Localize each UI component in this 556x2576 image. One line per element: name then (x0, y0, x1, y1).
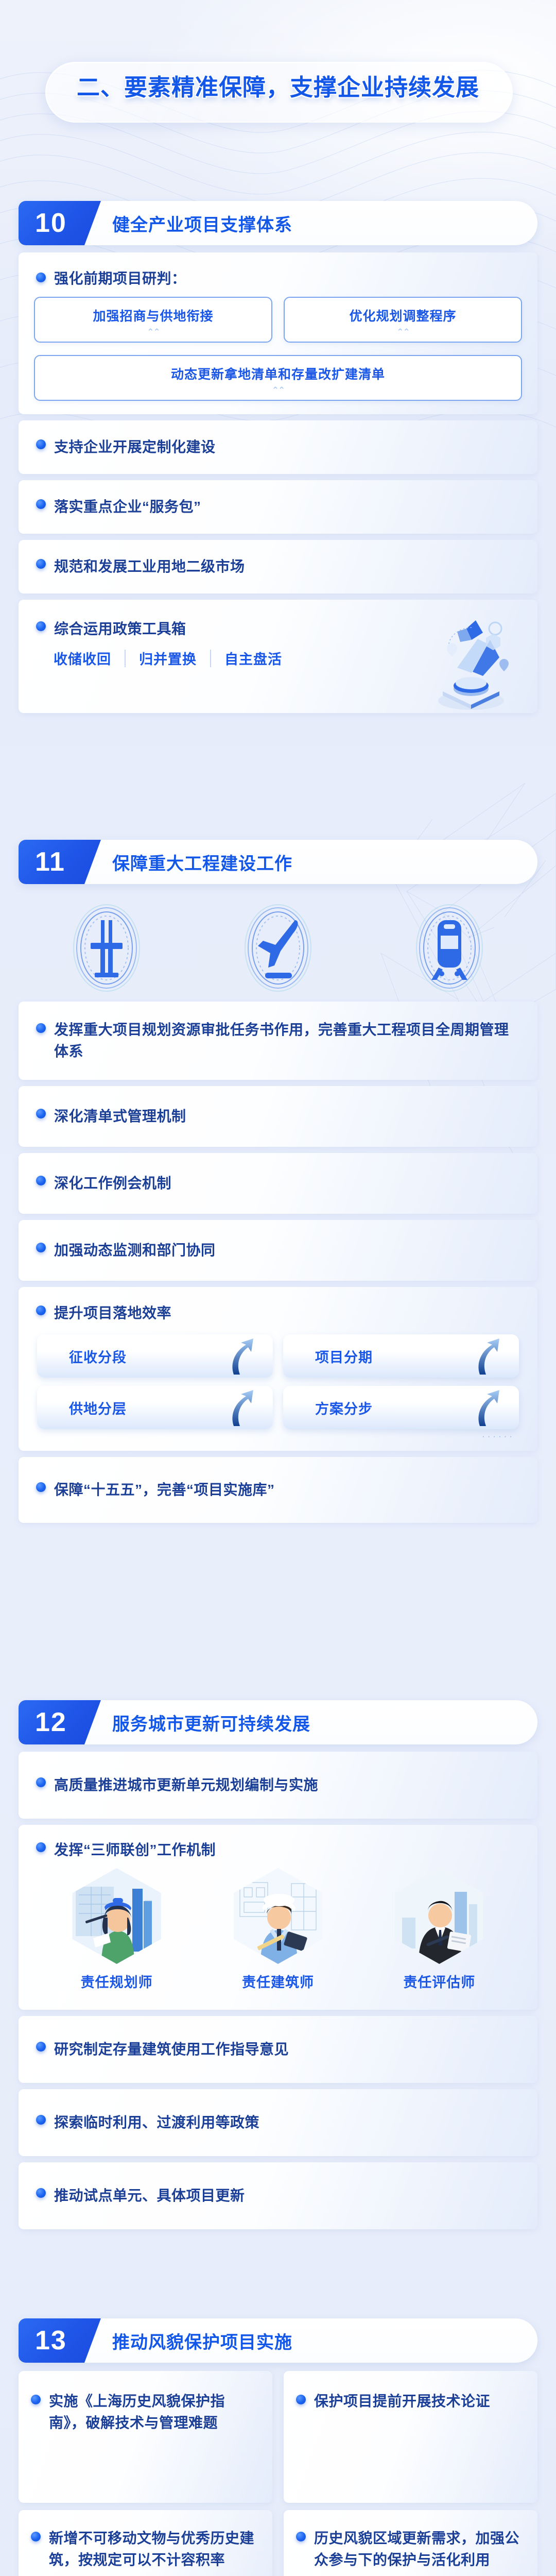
bullet-text: 加强动态监测和部门协同 (54, 1240, 216, 1261)
efficiency-card-label: 方案分步 (315, 1398, 373, 1418)
bullet-dot-icon (36, 1842, 46, 1852)
card-13-1a: 实施《上海历史风貌保护指南》，破解技术与管理难题 (19, 2371, 272, 2503)
bullet-dot-icon (36, 499, 46, 509)
bullet-item: 深化清单式管理机制 (19, 1106, 201, 1127)
bullet-item: 落实重点企业“服务包” (19, 496, 216, 518)
toolbox-option[interactable]: 自主盘活 (211, 648, 296, 668)
efficiency-card-label: 供地分层 (69, 1398, 127, 1418)
bullet-text: 发挥重大项目规划资源审批任务书作用，完善重大工程项目全周期管理体系 (54, 1019, 517, 1062)
section-title: 保障重大工程建设工作 (112, 840, 292, 884)
pill-grid: 加强招商与供地衔接 ⌃⌃ 优化规划调整程序 ⌃⌃ (19, 297, 537, 346)
section-10: 10 健全产业项目支撑体系 强化前期项目研判： 加强招商与供地衔接 ⌃⌃ 优化规… (0, 201, 556, 713)
bullet-item: 实施《上海历史风貌保护指南》，破解技术与管理难题 (19, 2371, 272, 2434)
policy-toolbox-options: 收储收回 归并置换 自主盘活 (19, 645, 537, 668)
bullet-item: 推动试点单元、具体项目更新 (19, 2185, 259, 2207)
bullet-item: 保障“十五五”，完善“项目实施库” (19, 1479, 289, 1501)
bullet-text: 推动试点单元、具体项目更新 (54, 2185, 245, 2207)
bullet-dot-icon (36, 1777, 46, 1787)
card-13-2b: 历史风貌区域更新需求，加强公众参与下的保护与活化利用 (284, 2510, 537, 2576)
section-12: 12 服务城市更新可持续发展 高质量推进城市更新单元规划编制与实施 发挥“三师联… (0, 1700, 556, 2229)
bullet-dot-icon (36, 1306, 46, 1315)
card-12-5: 推动试点单元、具体项目更新 (19, 2162, 537, 2229)
section-title: 推动风貌保护项目实施 (112, 2318, 292, 2363)
more-dots: ······ (19, 1429, 537, 1442)
efficiency-card[interactable]: 征收分段 (37, 1334, 273, 1378)
dual-row-1: 实施《上海历史风貌保护指南》，破解技术与管理难题 保护项目提前开展技术论证 (19, 2371, 537, 2503)
role-item[interactable]: 责任评估师 (391, 1868, 487, 1991)
up-arrow-icon (224, 1389, 258, 1427)
bullet-text: 深化清单式管理机制 (54, 1106, 186, 1127)
card-12-3: 研究制定存量建筑使用工作指导意见 (19, 2016, 537, 2083)
bullet-dot-icon (36, 621, 46, 631)
up-arrow-icon (224, 1337, 258, 1376)
section-13: 13 推动风貌保护项目实施 实施《上海历史风貌保护指南》，破解技术与管理难题 保… (0, 2318, 556, 2576)
chevron-up-icon: ⌃⌃ (39, 328, 267, 336)
section-number: 13 (35, 2327, 67, 2354)
bullet-text: 新增不可移动文物与优秀历史建筑，按规定可以不计容积率 (49, 2528, 262, 2571)
up-arrow-icon (471, 1389, 505, 1427)
bullet-text: 历史风貌区域更新需求，加强公众参与下的保护与活化利用 (314, 2528, 527, 2571)
card-11-5: 提升项目落地效率 征收分段 项目分期 供地分层 (19, 1287, 537, 1451)
card-12-4: 探索临时利用、过渡利用等政策 (19, 2089, 537, 2156)
bullet-item: 历史风貌区域更新需求，加强公众参与下的保护与活化利用 (284, 2510, 537, 2571)
chevron-up-icon: ⌃⌃ (39, 386, 517, 395)
bullet-item: 规范和发展工业用地二级市场 (19, 556, 259, 578)
airplane-icon (239, 902, 317, 994)
bullet-dot-icon (296, 2532, 306, 2541)
up-arrow-icon (471, 1337, 505, 1376)
section-number: 10 (35, 210, 67, 236)
section-title: 服务城市更新可持续发展 (112, 1700, 310, 1744)
role-label: 责任规划师 (69, 1971, 165, 1991)
card-11-2: 深化清单式管理机制 (19, 1086, 537, 1147)
bullet-text: 保障“十五五”，完善“项目实施库” (54, 1479, 275, 1501)
bullet-text: 实施《上海历史风貌保护指南》，破解技术与管理难题 (49, 2391, 261, 2434)
efficiency-card-label: 征收分段 (69, 1346, 127, 1366)
chevron-up-icon: ⌃⌃ (289, 328, 517, 336)
pill-option[interactable]: 加强招商与供地衔接 ⌃⌃ (34, 297, 272, 343)
pill-label: 动态更新拿地清单和存量改扩建清单 (39, 364, 517, 383)
role-item[interactable]: 责任规划师 (69, 1868, 165, 1991)
bullet-text: 强化前期项目研判： (54, 268, 186, 290)
section-11: 11 保障重大工程建设工作 (0, 840, 556, 1523)
dual-row-2: 新增不可移动文物与优秀历史建筑，按规定可以不计容积率 历史风貌区域更新需求，加强… (19, 2510, 537, 2576)
bullet-dot-icon (36, 1243, 46, 1252)
bullet-item: 提升项目落地效率 (19, 1287, 537, 1332)
planner-avatar (73, 1868, 161, 1964)
section-number: 12 (35, 1709, 67, 1736)
pill-option-wide[interactable]: 动态更新拿地清单和存量改扩建清单 ⌃⌃ (34, 355, 522, 401)
card-10-1: 强化前期项目研判： 加强招商与供地衔接 ⌃⌃ 优化规划调整程序 ⌃⌃ 动态更新拿… (19, 252, 537, 414)
efficiency-card-grid: 征收分段 项目分期 供地分层 方案分步 (19, 1332, 537, 1429)
bullet-item: 综合运用政策工具箱 (19, 600, 537, 645)
bullet-dot-icon (31, 2395, 41, 2404)
bridge-icon (68, 902, 145, 994)
bullet-text: 深化工作例会机制 (54, 1173, 171, 1194)
bullet-text: 高质量推进城市更新单元规划编制与实施 (54, 1774, 318, 1796)
bullet-text: 发挥“三师联创”工作机制 (54, 1839, 216, 1861)
section-13-header: 13 推动风貌保护项目实施 (19, 2318, 537, 2363)
pill-option[interactable]: 优化规划调整程序 ⌃⌃ (284, 297, 522, 343)
card-12-1: 高质量推进城市更新单元规划编制与实施 (19, 1752, 537, 1819)
efficiency-card[interactable]: 项目分期 (283, 1334, 519, 1378)
card-11-4: 加强动态监测和部门协同 (19, 1220, 537, 1281)
bullet-text: 研究制定存量建筑使用工作指导意见 (54, 2039, 289, 2060)
efficiency-card[interactable]: 供地分层 (37, 1386, 273, 1429)
bullet-item: 探索临时利用、过渡利用等政策 (19, 2112, 274, 2133)
three-roles-row: 责任规划师 (19, 1863, 537, 1998)
bullet-dot-icon (36, 1023, 46, 1033)
toolbox-option[interactable]: 收储收回 (40, 648, 125, 668)
bullet-text: 规范和发展工业用地二级市场 (54, 556, 245, 578)
transport-icon-row (0, 893, 556, 998)
bullet-item: 发挥“三师联创”工作机制 (19, 1825, 537, 1863)
card-10-5: 综合运用政策工具箱 收储收回 归并置换 自主盘活 (19, 600, 537, 713)
appraiser-avatar (395, 1868, 483, 1964)
bullet-item: 发挥重大项目规划资源审批任务书作用，完善重大工程项目全周期管理体系 (19, 1019, 537, 1062)
bullet-item: 支持企业开展定制化建设 (19, 436, 230, 458)
bullet-dot-icon (36, 559, 46, 569)
bullet-dot-icon (296, 2395, 306, 2404)
toolbox-option[interactable]: 归并置换 (126, 648, 210, 668)
section-10-header: 10 健全产业项目支撑体系 (19, 201, 537, 245)
bullet-item: 强化前期项目研判： (19, 252, 537, 297)
section-title: 健全产业项目支撑体系 (112, 201, 292, 245)
card-11-6: 保障“十五五”，完善“项目实施库” (19, 1457, 537, 1523)
card-10-2: 支持企业开展定制化建设 (19, 420, 537, 474)
train-icon (411, 902, 488, 994)
bullet-item: 保护项目提前开展技术论证 (284, 2371, 537, 2412)
pill-label: 优化规划调整程序 (289, 306, 517, 325)
bullet-dot-icon (36, 273, 46, 282)
card-13-2a: 新增不可移动文物与优秀历史建筑，按规定可以不计容积率 (19, 2510, 272, 2576)
bullet-dot-icon (36, 2188, 46, 2198)
card-13-1b: 保护项目提前开展技术论证 (284, 2371, 537, 2503)
card-12-2: 发挥“三师联创”工作机制 (19, 1825, 537, 2010)
role-label: 责任建筑师 (230, 1971, 326, 1991)
bullet-item: 深化工作例会机制 (19, 1173, 186, 1194)
section-11-header: 11 保障重大工程建设工作 (19, 840, 537, 884)
bullet-dot-icon (36, 1176, 46, 1185)
bullet-text: 保护项目提前开展技术论证 (314, 2391, 490, 2412)
bullet-item: 新增不可移动文物与优秀历史建筑，按规定可以不计容积率 (19, 2510, 272, 2571)
bullet-text: 探索临时利用、过渡利用等政策 (54, 2112, 259, 2133)
card-10-3: 落实重点企业“服务包” (19, 480, 537, 534)
page-title: 二、要素精准保障，支撑企业持续发展 (0, 69, 556, 102)
bullet-text: 落实重点企业“服务包” (54, 496, 201, 518)
bullet-text: 提升项目落地效率 (54, 1302, 171, 1324)
pill-label: 加强招商与供地衔接 (39, 306, 267, 325)
bullet-dot-icon (31, 2532, 41, 2541)
hero-banner: 二、要素精准保障，支撑企业持续发展 (0, 0, 556, 183)
card-11-3: 深化工作例会机制 (19, 1153, 537, 1214)
bullet-dot-icon (36, 2042, 46, 2052)
bullet-item: 高质量推进城市更新单元规划编制与实施 (19, 1774, 333, 1796)
bullet-text: 综合运用政策工具箱 (54, 618, 186, 640)
card-11-1: 发挥重大项目规划资源审批任务书作用，完善重大工程项目全周期管理体系 (19, 1002, 537, 1080)
section-12-header: 12 服务城市更新可持续发展 (19, 1700, 537, 1744)
card-10-4: 规范和发展工业用地二级市场 (19, 540, 537, 594)
role-item[interactable]: 责任建筑师 (230, 1868, 326, 1991)
efficiency-card[interactable]: 方案分步 (283, 1386, 519, 1429)
bullet-dot-icon (36, 439, 46, 449)
bullet-dot-icon (36, 1482, 46, 1492)
bullet-dot-icon (36, 1109, 46, 1118)
role-label: 责任评估师 (391, 1971, 487, 1991)
section-number: 11 (35, 849, 65, 875)
efficiency-card-label: 项目分期 (315, 1346, 373, 1366)
architect-avatar (234, 1868, 322, 1964)
bullet-item: 研究制定存量建筑使用工作指导意见 (19, 2039, 303, 2060)
bullet-item: 加强动态监测和部门协同 (19, 1240, 230, 1261)
bullet-dot-icon (36, 2115, 46, 2125)
bullet-text: 支持企业开展定制化建设 (54, 436, 216, 458)
